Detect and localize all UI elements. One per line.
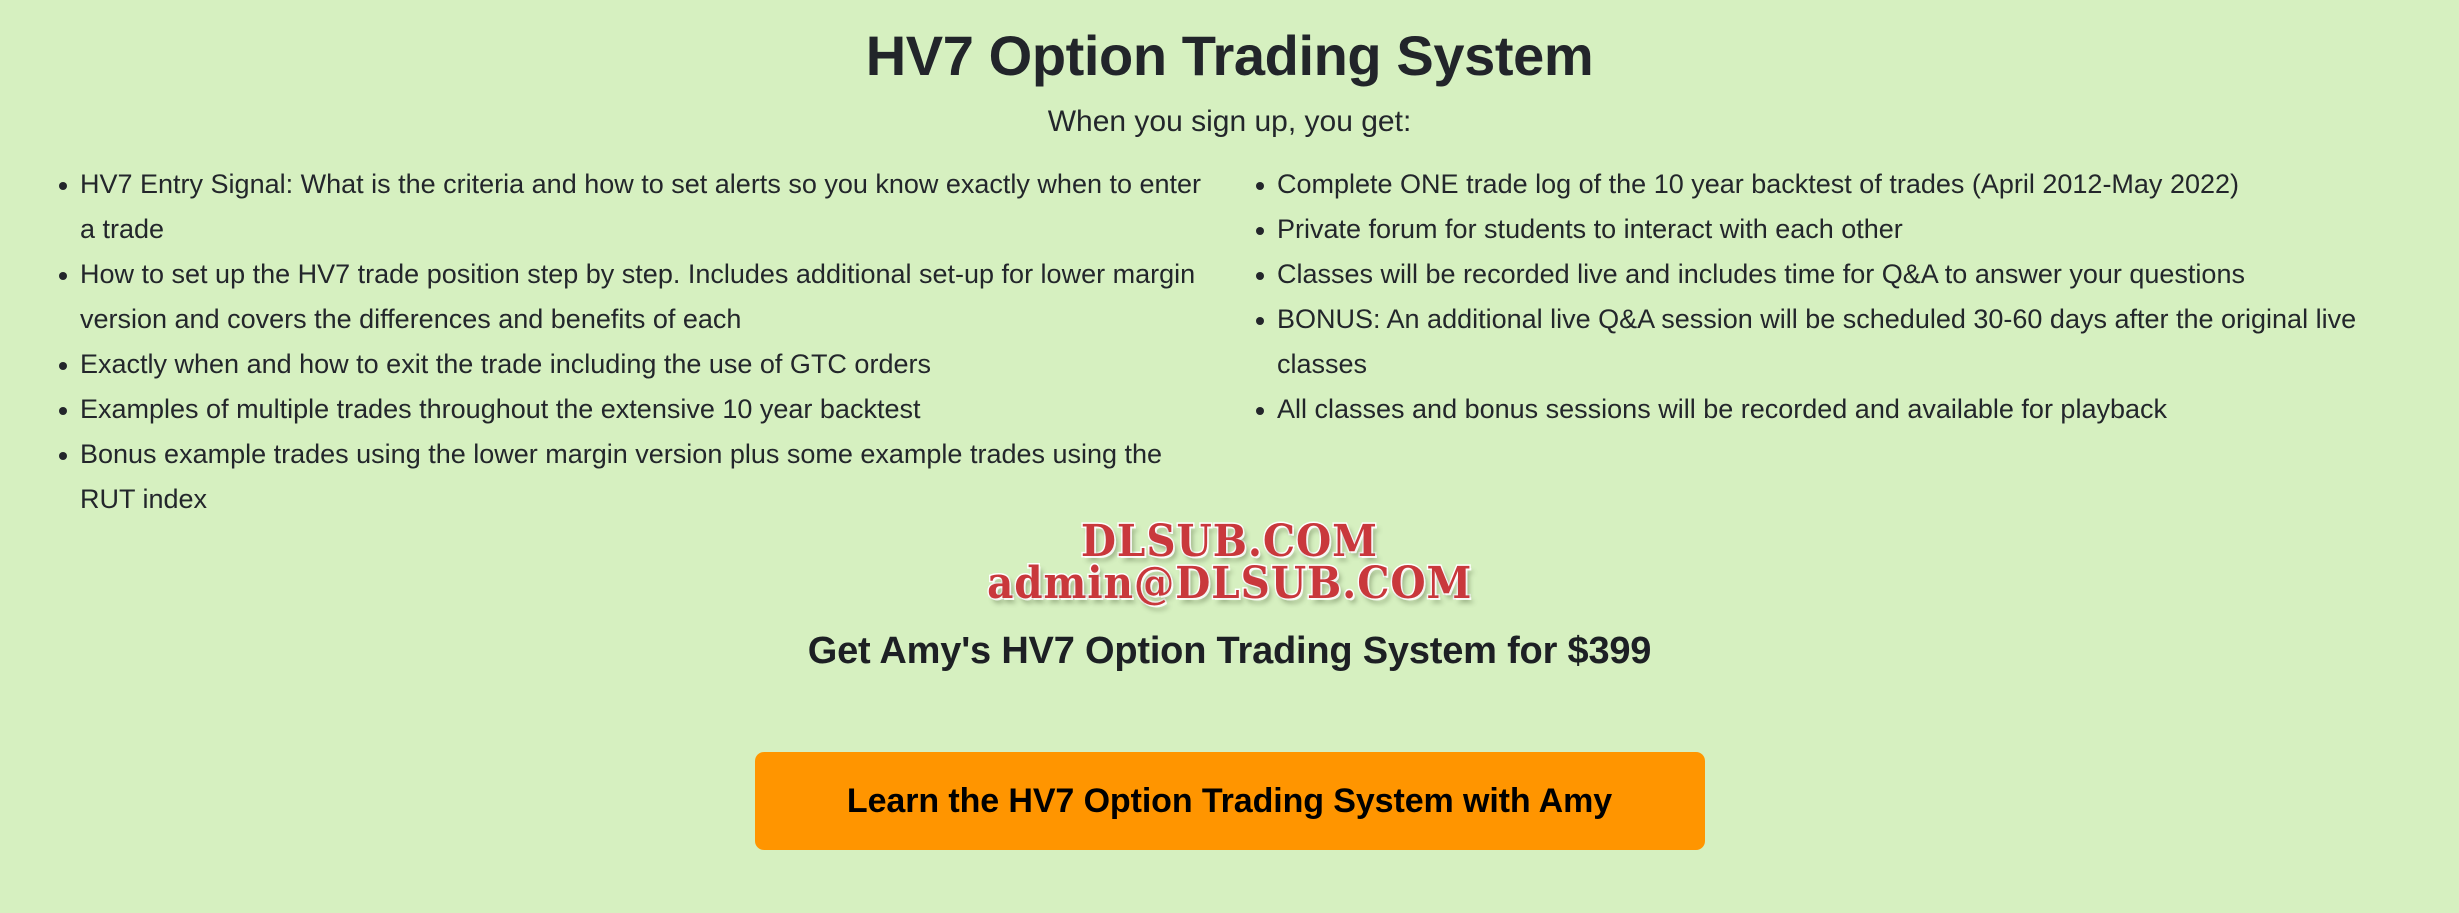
landing-page: HV7 Option Trading System When you sign … (0, 0, 2459, 913)
price-headline: Get Amy's HV7 Option Trading System for … (0, 630, 2459, 673)
list-item: Bonus example trades using the lower mar… (42, 432, 1211, 522)
list-item: Examples of multiple trades throughout t… (42, 387, 1211, 432)
watermark-site-text: DLSUB.COM (1081, 516, 1378, 567)
benefits-list-left: HV7 Entry Signal: What is the criteria a… (42, 162, 1211, 522)
learn-hv7-cta-button[interactable]: Learn the HV7 Option Trading System with… (755, 752, 1705, 850)
benefits-section: HV7 Entry Signal: What is the criteria a… (0, 140, 2459, 522)
benefits-column-left: HV7 Entry Signal: What is the criteria a… (0, 162, 1229, 522)
cta-container: Learn the HV7 Option Trading System with… (0, 752, 2459, 850)
list-item: Exactly when and how to exit the trade i… (42, 342, 1211, 387)
list-item: All classes and bonus sessions will be r… (1239, 387, 2440, 432)
watermark-email-text: admin@DLSUB.COM (987, 558, 1472, 609)
watermark-email: admin@DLSUB.COM (0, 558, 2459, 609)
list-item: Private forum for students to interact w… (1239, 207, 2440, 252)
list-item: How to set up the HV7 trade position ste… (42, 252, 1211, 342)
list-item: BONUS: An additional live Q&A session wi… (1239, 297, 2440, 387)
benefits-column-right: Complete ONE trade log of the 10 year ba… (1229, 162, 2458, 432)
list-item: Classes will be recorded live and includ… (1239, 252, 2440, 297)
page-title: HV7 Option Trading System (0, 0, 2459, 86)
list-item: Complete ONE trade log of the 10 year ba… (1239, 162, 2440, 207)
page-subtitle: When you sign up, you get: (0, 86, 2459, 140)
benefits-list-right: Complete ONE trade log of the 10 year ba… (1239, 162, 2440, 432)
list-item: HV7 Entry Signal: What is the criteria a… (42, 162, 1211, 252)
watermark-site: DLSUB.COM (0, 516, 2459, 567)
